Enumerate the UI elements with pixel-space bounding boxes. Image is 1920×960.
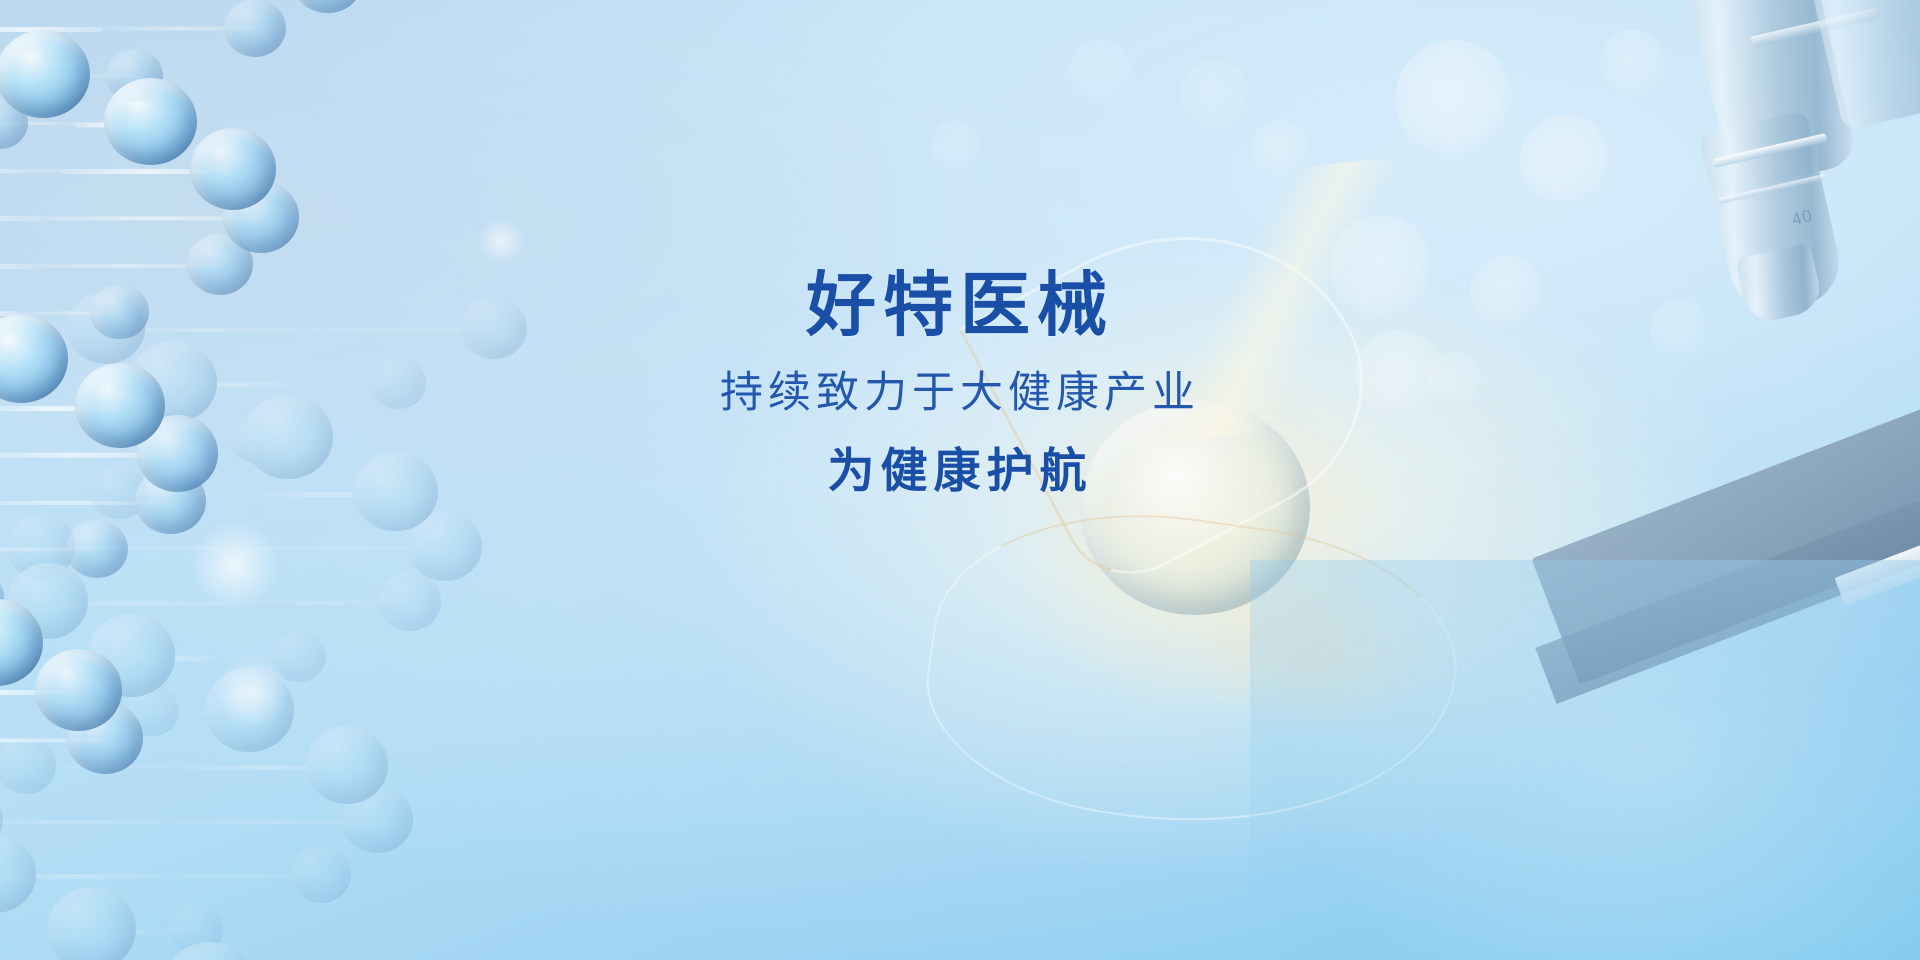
dna-rung: [0, 820, 172, 824]
banner-title: 好特医械: [0, 268, 1920, 344]
banner-subtitle: 持续致力于大健康产业: [0, 370, 1920, 417]
banner-tagline: 为健康护航: [0, 445, 1920, 497]
dna-nucleotide: [292, 0, 363, 13]
dna-nucleotide: [47, 887, 136, 960]
dna-rung: [0, 216, 46, 220]
dna-nucleotide: [35, 649, 121, 730]
hero-banner: 40 好特医械 持续致力于大健康产业 为健康护航: [0, 0, 1920, 960]
dna-nucleotide: [190, 128, 277, 209]
glow-dot: [478, 218, 524, 264]
dna-rung: [0, 169, 61, 173]
dna-nucleotide: [0, 30, 90, 118]
dna-nucleotide: [306, 726, 389, 804]
dna-nucleotide: [104, 78, 197, 166]
dna-nucleotide: [291, 846, 351, 903]
dna-nucleotide: [75, 363, 165, 448]
dna-nucleotide: [0, 737, 56, 794]
glow-dot: [190, 520, 280, 610]
dna-nucleotide: [0, 835, 36, 913]
glow-dot: [215, 655, 289, 729]
hero-text-block: 好特医械 持续致力于大健康产业 为健康护航: [0, 268, 1920, 497]
dna-nucleotide: [66, 520, 127, 578]
dna-nucleotide: [224, 0, 286, 57]
dna-nucleotide: [378, 572, 441, 631]
